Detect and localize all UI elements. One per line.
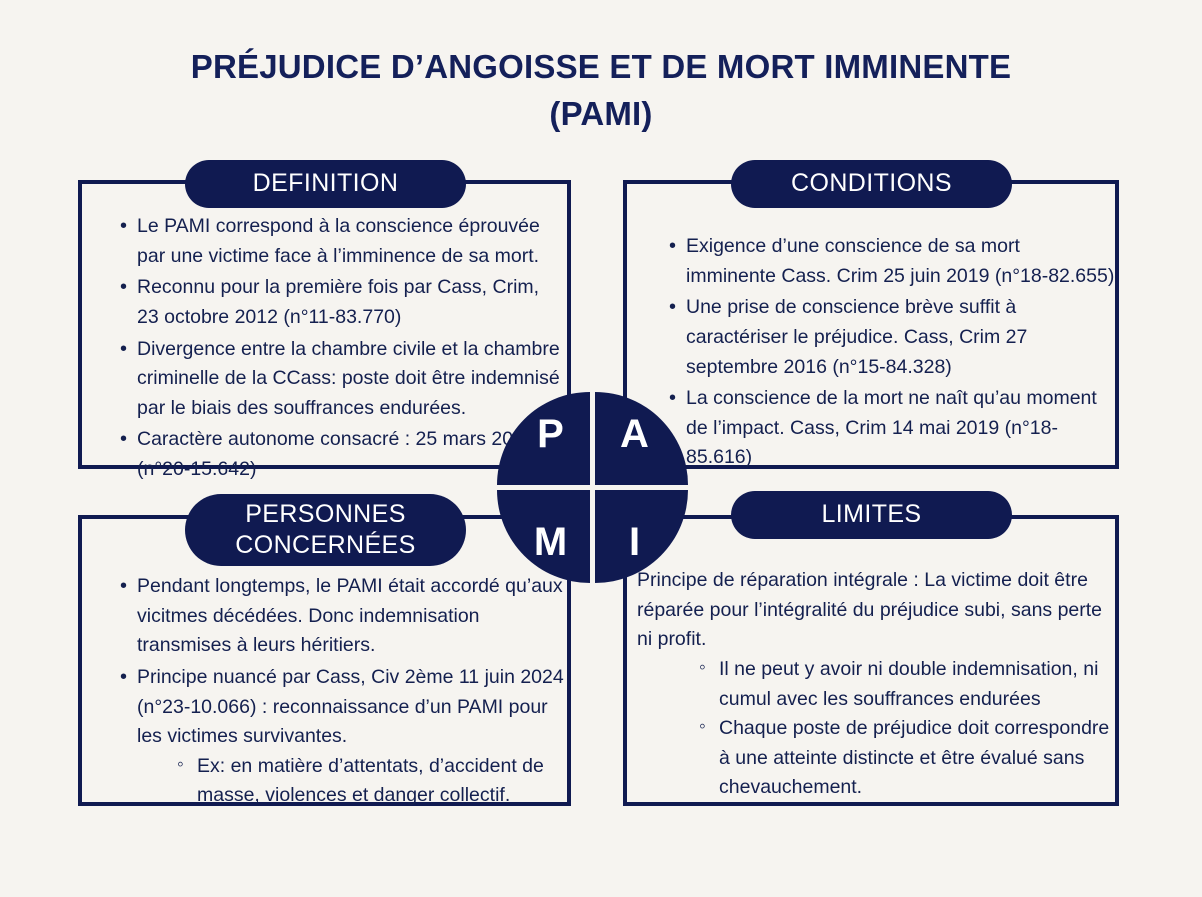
limites-heading-label: LIMITES: [821, 499, 921, 531]
pami-center-circle: P A M I: [497, 392, 688, 583]
pami-letter-a: A: [620, 414, 649, 454]
pami-letter-i: I: [629, 522, 640, 562]
page-title: PRÉJUDICE D’ANGOISSE ET DE MORT IMMINENT…: [0, 44, 1202, 138]
definition-heading-pill: DEFINITION: [185, 160, 466, 208]
personnes-heading-line-2: CONCERNÉES: [235, 530, 415, 562]
pami-letter-p: P: [537, 414, 564, 454]
definition-bullet-list: Le PAMI correspond à la conscience éprou…: [96, 212, 566, 485]
personnes-bullet-list: Pendant longtemps, le PAMI était accordé…: [96, 572, 566, 811]
personnes-concernees-heading-pill: PERSONNES CONCERNÉES: [185, 494, 466, 566]
limites-heading-pill: LIMITES: [731, 491, 1012, 539]
personnes-sub-bullet-list: Ex: en matière d’attentats, d’accident d…: [137, 752, 566, 811]
limites-content: Principe de réparation intégrale : La vi…: [637, 566, 1113, 803]
list-item: Principe nuancé par Cass, Civ 2ème 11 ju…: [122, 663, 566, 811]
conditions-heading-pill: CONDITIONS: [731, 160, 1012, 208]
definition-heading-label: DEFINITION: [253, 168, 399, 200]
conditions-content: Exigence d’une conscience de sa mort imm…: [645, 232, 1115, 475]
personnes-concernees-content: Pendant longtemps, le PAMI était accordé…: [96, 572, 566, 813]
page-title-line-1: PRÉJUDICE D’ANGOISSE ET DE MORT IMMINENT…: [0, 44, 1202, 91]
list-item: Exigence d’une conscience de sa mort imm…: [671, 232, 1115, 291]
personnes-heading-line-1: PERSONNES: [235, 499, 415, 531]
definition-content: Le PAMI correspond à la conscience éprou…: [96, 212, 566, 487]
personnes-heading-label: PERSONNES CONCERNÉES: [235, 499, 415, 562]
pami-quadrant-i: I: [595, 490, 688, 583]
list-item: Il ne peut y avoir ni double indemnisati…: [699, 655, 1113, 714]
list-item: Le PAMI correspond à la conscience éprou…: [122, 212, 566, 271]
list-item: Ex: en matière d’attentats, d’accident d…: [177, 752, 566, 811]
list-item: Chaque poste de préjudice doit correspon…: [699, 714, 1113, 803]
conditions-bullet-list: Exigence d’une conscience de sa mort imm…: [645, 232, 1115, 473]
pami-quadrant-p: P: [497, 392, 590, 485]
pami-letter-m: M: [534, 522, 567, 562]
limites-sub-bullet-list: Il ne peut y avoir ni double indemnisati…: [637, 655, 1113, 803]
pami-quadrant-a: A: [595, 392, 688, 485]
page-title-line-2: (PAMI): [0, 91, 1202, 138]
pami-quadrant-m: M: [497, 490, 590, 583]
infographic-page: PRÉJUDICE D’ANGOISSE ET DE MORT IMMINENT…: [0, 0, 1202, 897]
list-item: Reconnu pour la première fois par Cass, …: [122, 273, 566, 332]
limites-intro-text: Principe de réparation intégrale : La vi…: [637, 566, 1113, 655]
list-item: La conscience de la mort ne naît qu’au m…: [671, 384, 1115, 473]
list-item: Une prise de conscience brève suffit à c…: [671, 293, 1115, 382]
conditions-heading-label: CONDITIONS: [791, 168, 952, 200]
list-item-text: Principe nuancé par Cass, Civ 2ème 11 ju…: [137, 666, 564, 747]
list-item: Pendant longtemps, le PAMI était accordé…: [122, 572, 566, 661]
